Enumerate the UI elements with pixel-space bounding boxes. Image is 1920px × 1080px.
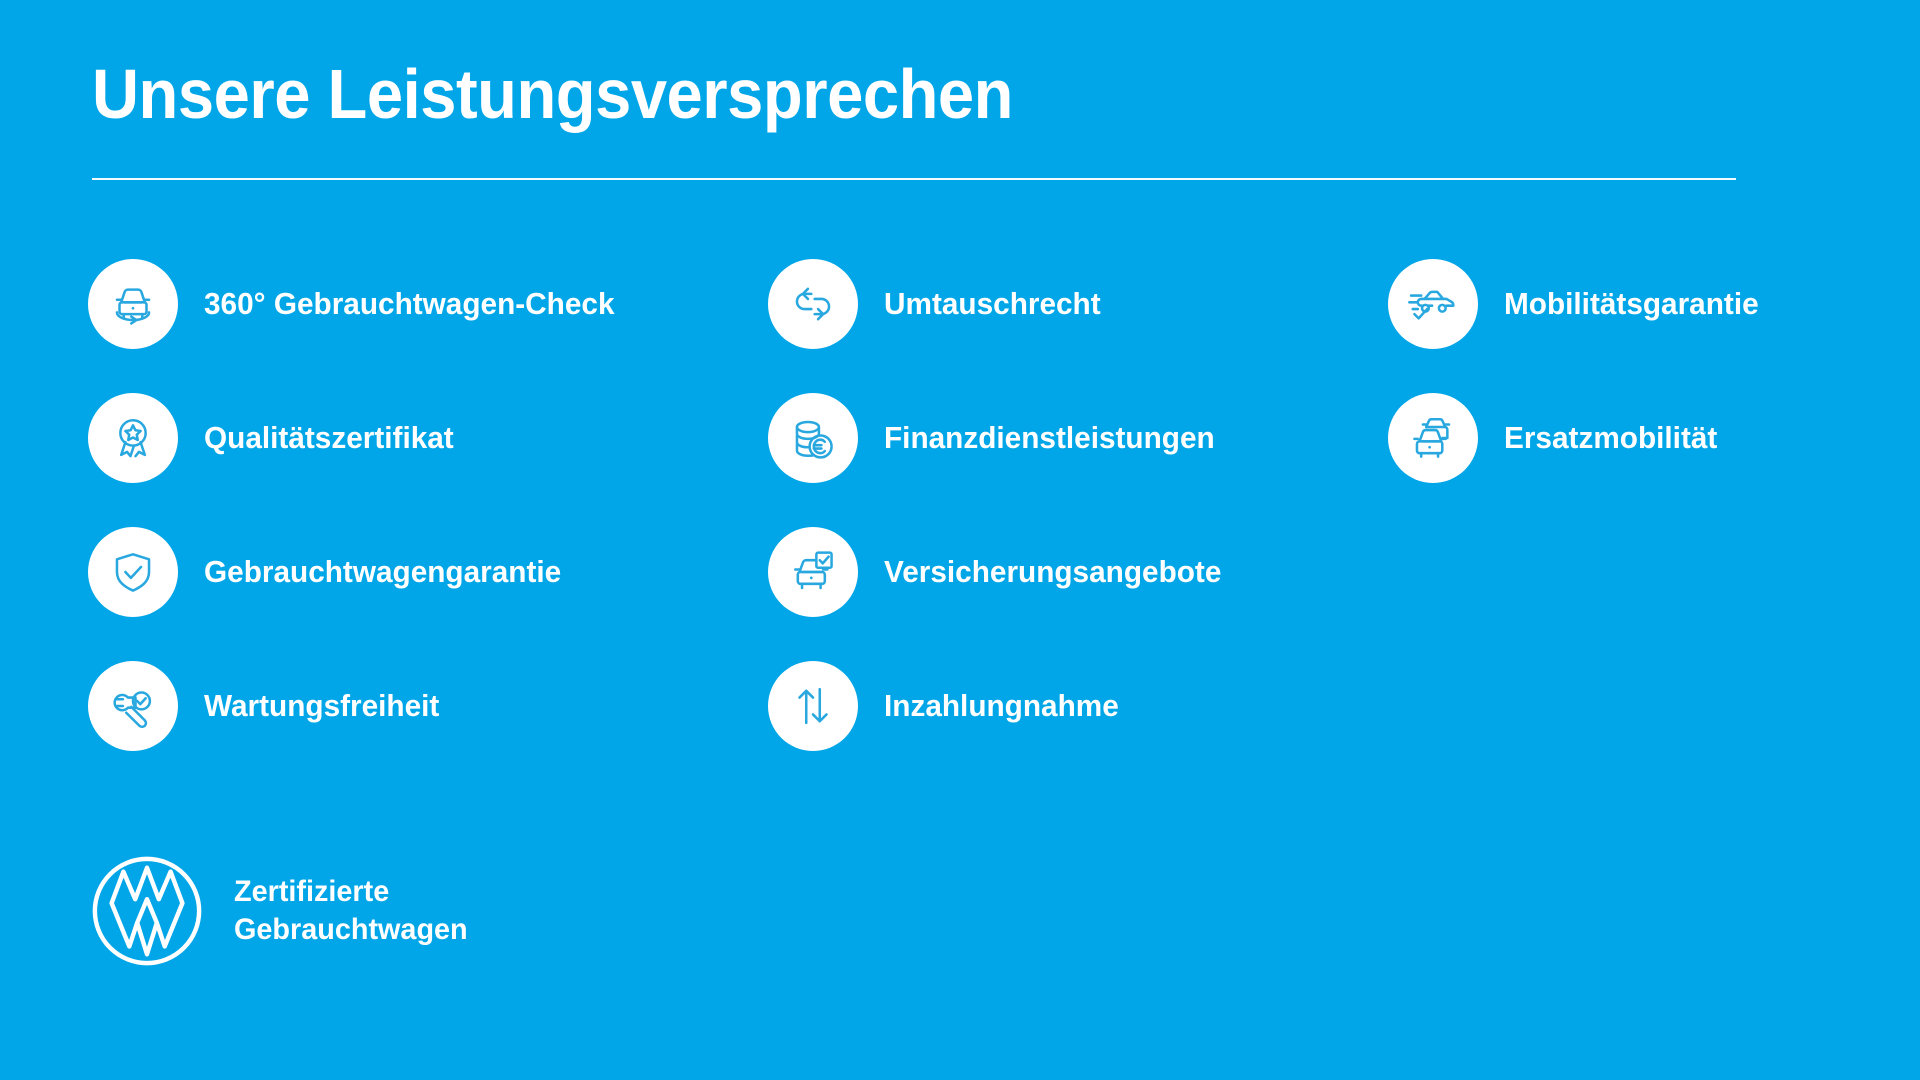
promise-label: Umtauschrecht — [884, 286, 1101, 322]
award-rosette-icon — [88, 393, 178, 483]
promise-label: Gebrauchtwagengarantie — [204, 554, 561, 590]
promise-item[interactable]: Mobilitätsgarantie — [1388, 258, 1908, 350]
shield-check-icon — [88, 527, 178, 617]
promise-item[interactable]: Versicherungsangebote — [768, 526, 1408, 618]
coins-euro-icon — [768, 393, 858, 483]
promise-label: 360° Gebrauchtwagen-Check — [204, 286, 615, 322]
promise-item[interactable]: Inzahlungnahme — [768, 660, 1408, 752]
page-title: Unsere Leistungsversprechen — [92, 58, 1706, 132]
promise-label: Ersatzmobilität — [1504, 420, 1717, 456]
promise-item[interactable]: Wartungsfreiheit — [88, 660, 728, 752]
two-cars-icon — [1388, 393, 1478, 483]
promise-column-2: Umtauschrecht Finanzdienstleistungen — [768, 258, 1408, 794]
wrench-check-icon — [88, 661, 178, 751]
brand-line-2: Gebrauchtwagen — [234, 911, 468, 949]
promise-label: Inzahlungnahme — [884, 688, 1119, 724]
promise-item[interactable]: 360° Gebrauchtwagen-Check — [88, 258, 728, 350]
promise-item[interactable]: Ersatzmobilität — [1388, 392, 1908, 484]
promise-item[interactable]: Finanzdienstleistungen — [768, 392, 1408, 484]
promise-label: Finanzdienstleistungen — [884, 420, 1215, 456]
promise-label: Mobilitätsgarantie — [1504, 286, 1759, 322]
brand-block: Zertifizierte Gebrauchtwagen — [88, 852, 477, 970]
car-360-check-icon — [88, 259, 178, 349]
car-checkbox-icon — [768, 527, 858, 617]
brand-line-1: Zertifizierte — [234, 873, 468, 911]
promise-label: Qualitätszertifikat — [204, 420, 454, 456]
promise-item[interactable]: Qualitätszertifikat — [88, 392, 728, 484]
promise-label: Versicherungsangebote — [884, 554, 1221, 590]
brand-text: Zertifizierte Gebrauchtwagen — [234, 873, 468, 950]
title-divider — [92, 178, 1736, 180]
slide-root: Unsere Leistungsversprechen — [0, 0, 1920, 1080]
promise-item[interactable]: Umtauschrecht — [768, 258, 1408, 350]
car-motion-check-icon — [1388, 259, 1478, 349]
header: Unsere Leistungsversprechen — [92, 58, 1828, 132]
up-down-arrows-icon — [768, 661, 858, 751]
promise-item[interactable]: Gebrauchtwagengarantie — [88, 526, 728, 618]
exchange-arrows-icon — [768, 259, 858, 349]
promise-label: Wartungsfreiheit — [204, 688, 439, 724]
volkswagen-logo — [88, 852, 206, 970]
promise-column-1: 360° Gebrauchtwagen-Check Qualitätszerti… — [88, 258, 728, 794]
promise-column-3: Mobilitätsgarantie E — [1388, 258, 1908, 526]
